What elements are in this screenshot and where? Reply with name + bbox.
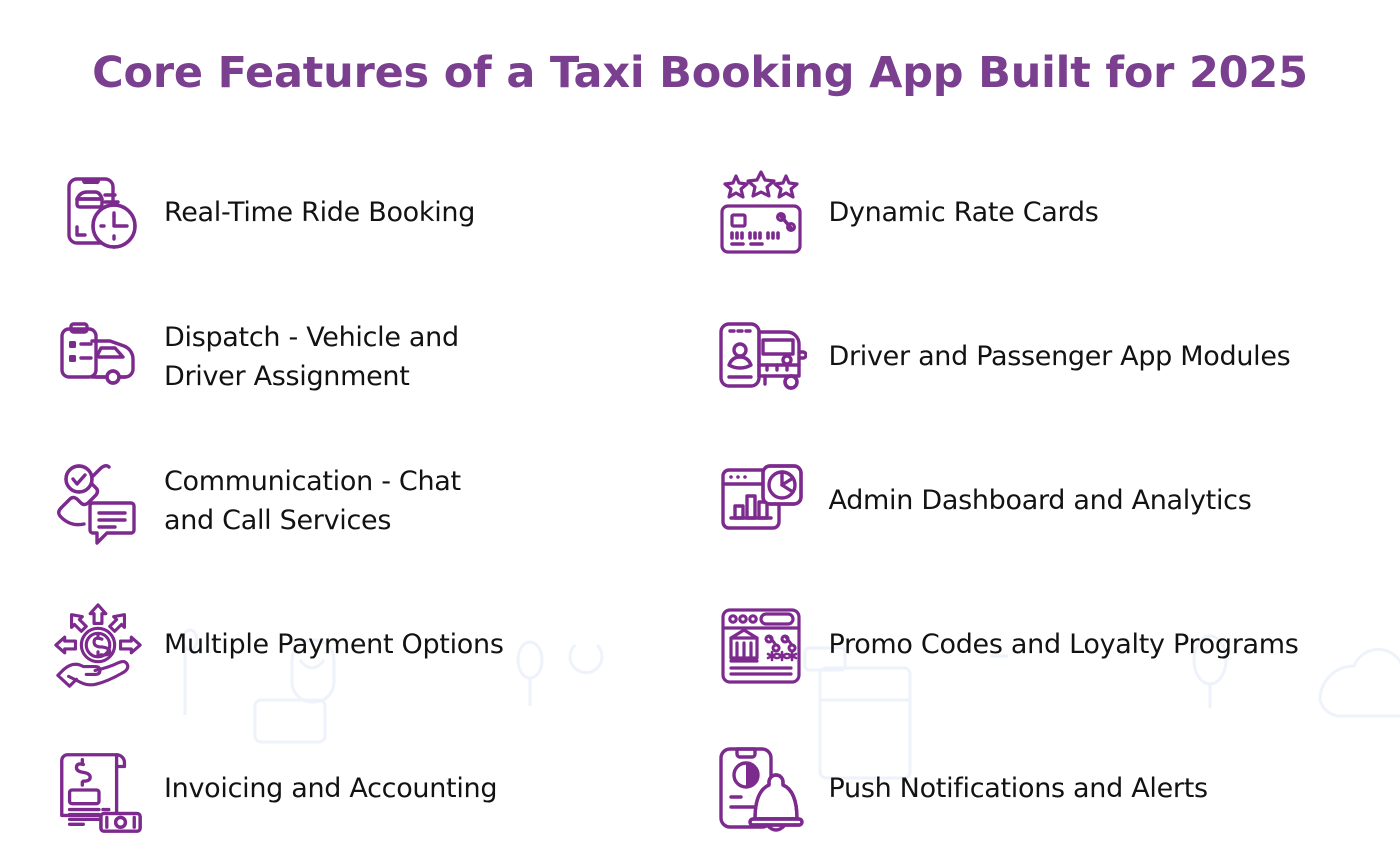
feature-label: Push Notifications and Alerts: [829, 770, 1208, 808]
feature-item: Dispatch - Vehicle and Driver Assignment: [50, 286, 698, 430]
feature-item: Promo Codes and Loyalty Programs: [713, 574, 1361, 718]
feature-item: Real-Time Ride Booking: [50, 142, 698, 286]
phone-passenger-bus-icon: [713, 310, 809, 406]
rate-card-stars-icon: [713, 166, 809, 262]
promo-browser-gift-icon: [713, 598, 809, 694]
feature-item: Multiple Payment Options: [50, 574, 698, 718]
features-grid: Real-Time Ride Booking: [0, 142, 1400, 862]
invoice-money-icon: [50, 742, 146, 838]
phone-car-clock-icon: [50, 166, 146, 262]
feature-item: Driver and Passenger App Modules: [713, 286, 1361, 430]
feature-item: Push Notifications and Alerts: [713, 718, 1361, 862]
phone-bell-icon: [713, 742, 809, 838]
clipboard-van-icon: [50, 310, 146, 406]
infographic-page: Core Features of a Taxi Booking App Buil…: [0, 0, 1400, 800]
dashboard-charts-icon: [713, 454, 809, 550]
feature-item: Invoicing and Accounting: [50, 718, 698, 862]
feature-item: Communication - Chat and Call Services: [50, 430, 698, 574]
feature-label: Dispatch - Vehicle and Driver Assignment: [164, 319, 459, 396]
feature-item: Dynamic Rate Cards: [713, 142, 1361, 286]
feature-label: Promo Codes and Loyalty Programs: [829, 626, 1299, 664]
phone-check-chat-icon: [50, 454, 146, 550]
hand-coin-arrows-icon: [50, 598, 146, 694]
feature-label: Admin Dashboard and Analytics: [829, 482, 1252, 520]
feature-label: Communication - Chat and Call Services: [164, 463, 461, 540]
feature-label: Dynamic Rate Cards: [829, 194, 1099, 232]
feature-label: Driver and Passenger App Modules: [829, 338, 1291, 376]
page-title: Core Features of a Taxi Booking App Buil…: [0, 0, 1400, 100]
features-column-left: Real-Time Ride Booking: [40, 142, 698, 862]
feature-item: Admin Dashboard and Analytics: [713, 430, 1361, 574]
feature-label: Real-Time Ride Booking: [164, 194, 475, 232]
feature-label: Invoicing and Accounting: [164, 770, 497, 808]
features-column-right: Dynamic Rate Cards: [698, 142, 1361, 862]
feature-label: Multiple Payment Options: [164, 626, 504, 664]
